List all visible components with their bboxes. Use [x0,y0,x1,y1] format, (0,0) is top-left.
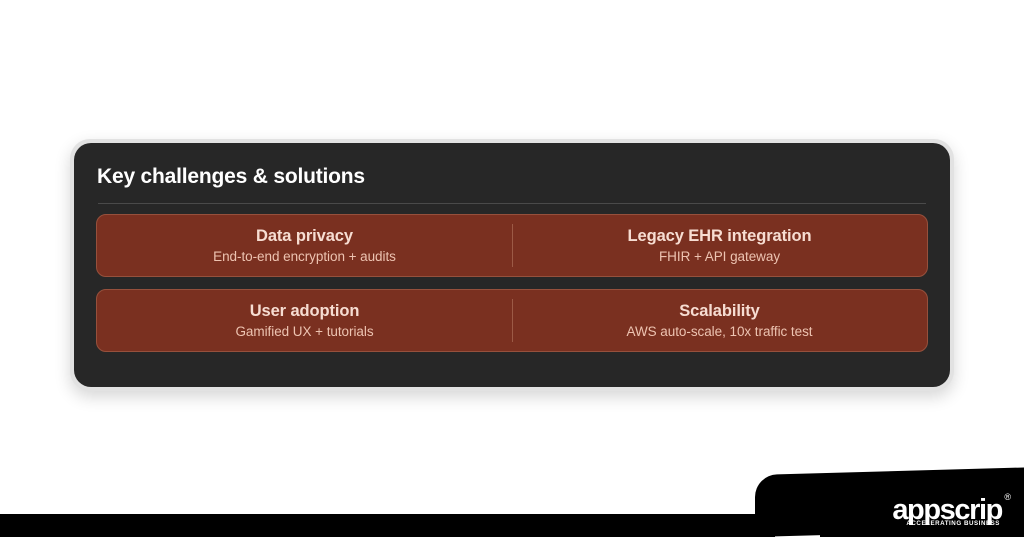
registered-trademark-icon: ® [1004,493,1011,502]
challenge-title: Scalability [679,302,760,321]
table-row[interactable]: Data privacy End-to-end encryption + aud… [96,214,928,277]
footer-band-right [755,467,1024,537]
challenge-cell-legacy-ehr-integration[interactable]: Legacy EHR integration FHIR + API gatewa… [512,215,927,276]
panel-inner: Key challenges & solutions Data privacy … [74,143,950,387]
challenge-cell-user-adoption[interactable]: User adoption Gamified UX + tutorials [97,290,512,351]
table-row[interactable]: User adoption Gamified UX + tutorials Sc… [96,289,928,352]
appscrip-wordmark: appscrip ® ACCELERATING BUSINESS [892,496,1002,525]
challenge-cell-scalability[interactable]: Scalability AWS auto-scale, 10x traffic … [512,290,927,351]
appscrip-tagline: ACCELERATING BUSINESS [906,521,1000,527]
footer-band: appscrip ® ACCELERATING BUSINESS [0,461,1024,537]
challenge-solution: AWS auto-scale, 10x traffic test [627,324,813,340]
challenge-solution: End-to-end encryption + audits [213,249,396,265]
challenge-title: Data privacy [256,227,353,246]
footer-band-right-fill [820,477,1024,537]
challenge-solution: Gamified UX + tutorials [235,324,373,340]
challenge-solution: FHIR + API gateway [659,249,780,265]
footer-band-left [0,514,775,537]
challenge-rows: Data privacy End-to-end encryption + aud… [96,214,928,367]
title-divider [98,203,926,204]
challenge-title: Legacy EHR integration [628,227,812,246]
appscrip-logo: appscrip ® ACCELERATING BUSINESS [892,496,1002,525]
challenge-title: User adoption [250,302,360,321]
appscrip-wordmark-text: appscrip [892,494,1002,526]
key-challenges-panel: Key challenges & solutions Data privacy … [70,139,954,391]
slide-canvas: Key challenges & solutions Data privacy … [0,0,1024,537]
challenge-cell-data-privacy[interactable]: Data privacy End-to-end encryption + aud… [97,215,512,276]
page-title: Key challenges & solutions [96,165,928,188]
